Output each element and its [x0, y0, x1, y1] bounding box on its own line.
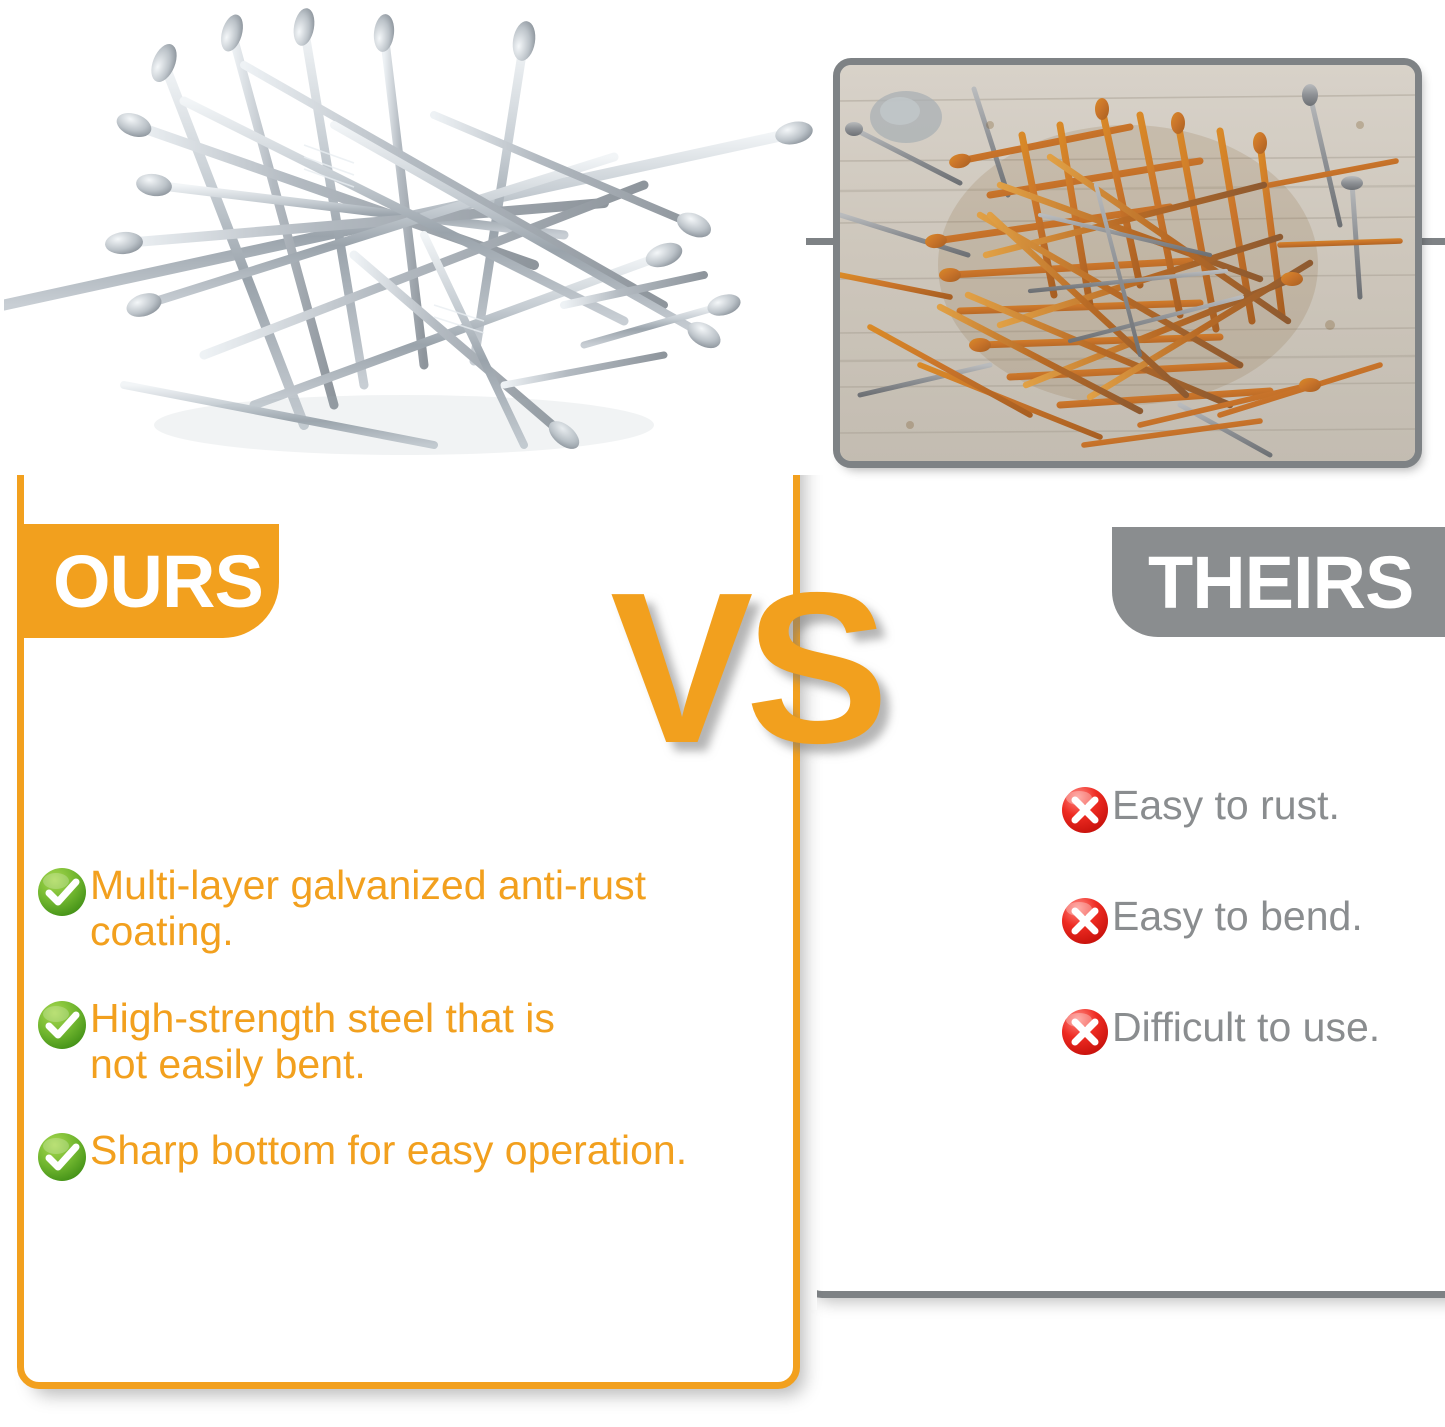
rusty-nails-image	[840, 65, 1415, 461]
list-item-label: Difficult to use.	[1112, 1004, 1380, 1050]
check-icon	[36, 1131, 88, 1183]
check-icon	[36, 999, 88, 1051]
list-item-label: Sharp bottom for easy operation.	[90, 1127, 687, 1173]
ours-badge: OURS	[17, 524, 279, 638]
list-item-label: High-strength steel that is not easily b…	[90, 995, 555, 1088]
check-icon	[36, 866, 88, 918]
list-item: Easy to bend.	[1060, 893, 1445, 946]
list-item: Difficult to use.	[1060, 1004, 1445, 1057]
theirs-feature-list: Easy to rust. Easy to bend.	[1060, 782, 1445, 1115]
theirs-badge: THEIRS	[1112, 527, 1445, 637]
list-item: Sharp bottom for easy operation.	[36, 1127, 796, 1183]
list-item-label: Easy to rust.	[1112, 782, 1340, 828]
galvanized-nails-image	[64, 15, 747, 450]
theirs-image-frame	[833, 58, 1422, 468]
cross-icon	[1060, 896, 1110, 946]
cross-icon	[1060, 785, 1110, 835]
list-item-label: Multi-layer galvanized anti-rust coating…	[90, 862, 646, 955]
ours-badge-label: OURS	[53, 539, 263, 624]
theirs-badge-label: THEIRS	[1148, 540, 1413, 625]
ours-feature-list: Multi-layer galvanized anti-rust coating…	[36, 862, 796, 1183]
list-item: High-strength steel that is not easily b…	[36, 995, 796, 1088]
list-item-label: Easy to bend.	[1112, 893, 1363, 939]
panel-connector-line	[806, 238, 838, 245]
list-item: Multi-layer galvanized anti-rust coating…	[36, 862, 796, 955]
vs-label: VS	[610, 560, 881, 775]
ours-image-frame	[57, 8, 754, 457]
list-item: Easy to rust.	[1060, 782, 1445, 835]
cross-icon	[1060, 1007, 1110, 1057]
